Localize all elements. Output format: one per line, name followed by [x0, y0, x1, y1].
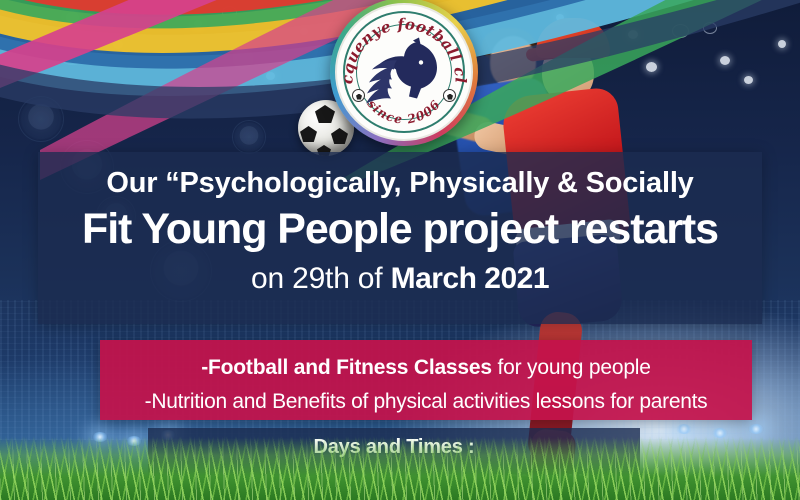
floodlight-icon	[748, 424, 764, 434]
headline-line-3: on 29th of March 2021	[38, 264, 762, 294]
headline-date-emphasis: March 2021	[391, 262, 549, 295]
offer-line-1-bold: -Football and Fitness Classes	[201, 356, 492, 379]
headline-text-group: Our “Psychologically, Physically & Socia…	[38, 152, 762, 324]
offers-banner: -Football and Fitness Classes for young …	[100, 340, 752, 420]
club-logo-inner: hacquenye football club since 2006	[335, 3, 473, 141]
club-logo-badge[interactable]: hacquenye football club since 2006	[330, 0, 478, 146]
offer-line-2: -Nutrition and Benefits of physical acti…	[100, 390, 752, 414]
horse-head-emblem-icon	[361, 36, 447, 110]
headline-panel: Our “Psychologically, Physically & Socia…	[38, 152, 762, 324]
headline-line-1: Our “Psychologically, Physically & Socia…	[38, 169, 762, 198]
offer-line-1-rest: for young people	[492, 356, 651, 379]
floodlight-icon	[676, 424, 692, 434]
poster-canvas: hacquenye football club since 2006	[0, 0, 800, 500]
offer-line-1: -Football and Fitness Classes for young …	[100, 356, 752, 380]
grass-blades-texture	[0, 436, 800, 500]
headline-line-2: Fit Young People project restarts	[38, 206, 762, 252]
headline-date-prefix: on 29th of	[251, 262, 391, 295]
logo-mini-ball-left-icon	[352, 89, 365, 102]
logo-mini-ball-right-icon	[443, 89, 456, 102]
